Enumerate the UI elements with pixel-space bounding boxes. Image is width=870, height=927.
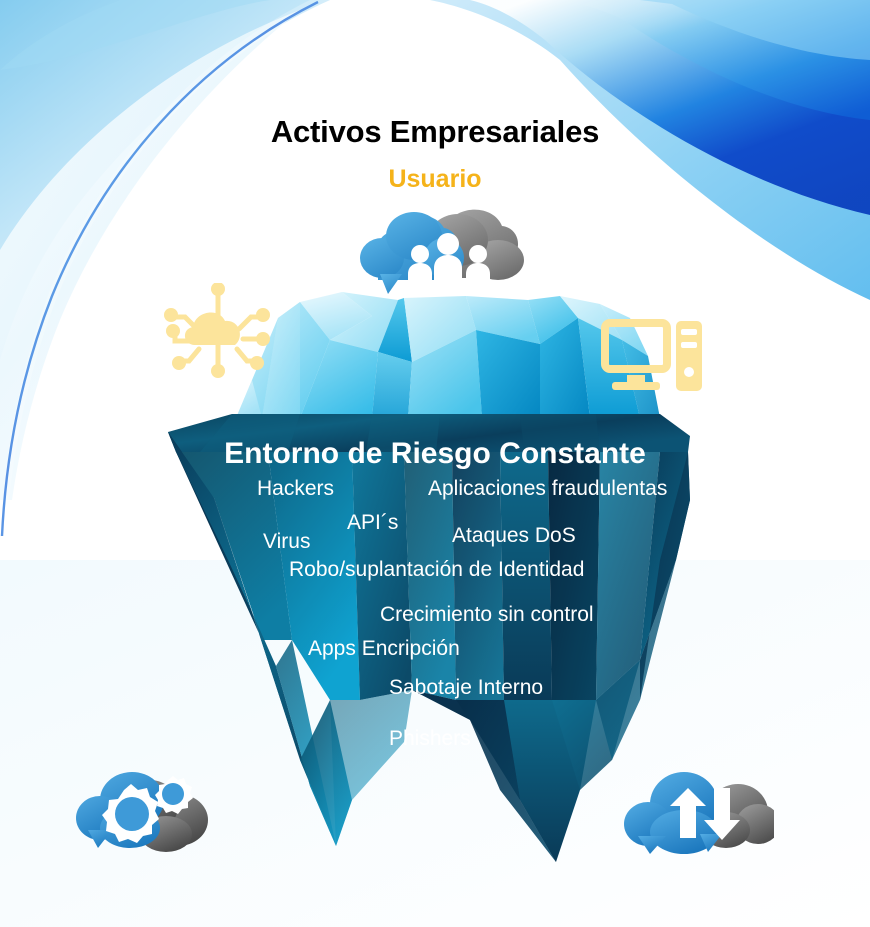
cloud-users-icon [352,200,524,310]
risk-label: Apps Encripción [308,637,460,661]
risk-label: Aplicaciones fraudulentas [428,477,667,501]
risk-label: API´s [347,511,398,535]
risk-label: Ataques DoS [452,524,576,548]
cloud-network-icon [163,283,273,388]
page-title: Activos Empresariales [0,114,870,150]
iceberg-tip [236,292,660,418]
cloud-sync-icon [622,762,774,867]
cloud-gears-icon [68,762,214,867]
desktop-computer-icon [600,318,704,403]
risk-section-heading: Entorno de Riesgo Constante [0,437,870,471]
risk-label: Phishers [389,727,471,751]
risk-label: Robo/suplantación de Identidad [289,558,584,582]
risk-label: Virus [263,530,310,554]
risk-label: Sabotaje Interno [389,676,543,700]
page-subtitle: Usuario [0,165,870,194]
risk-label: Crecimiento sin control [380,603,594,627]
risk-label: Hackers [257,477,334,501]
infographic-canvas: Activos Empresariales Usuario Entorno de… [0,0,870,927]
